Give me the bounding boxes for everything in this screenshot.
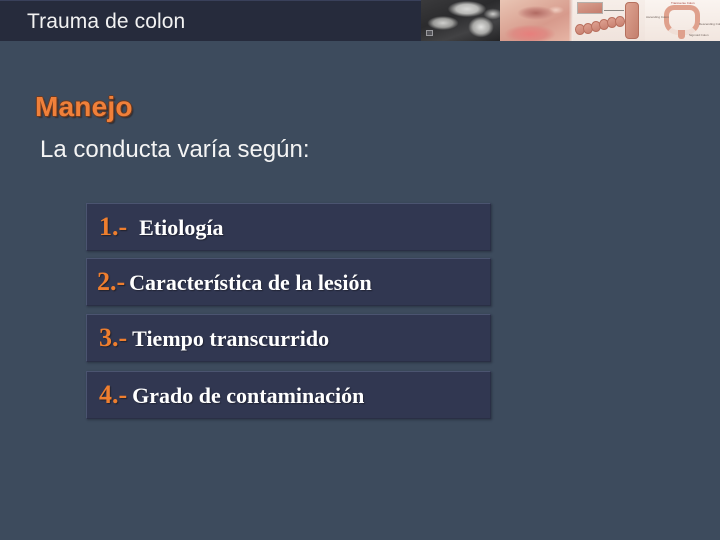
list-item: 2.- Característica de la lesión (86, 258, 491, 306)
endoscopy-mucosa-thumbnail (500, 0, 573, 41)
list-item-number: 3.- (99, 323, 127, 353)
diagram-label-descending: Descending Colon (699, 22, 720, 26)
anatomy-leader-line (604, 10, 624, 11)
list-item: 3.- Tiempo transcurrido (86, 314, 491, 362)
list-item-number: 1.- (99, 212, 127, 242)
list-item-content: 3.- Tiempo transcurrido (87, 323, 329, 353)
list-item-content: 4.- Grado de contaminación (87, 380, 364, 410)
list-item-content: 2.- Característica de la lesión (87, 267, 372, 297)
diagram-rectum-stem (678, 30, 685, 39)
list-item-label: Grado de contaminación (127, 383, 364, 409)
list-item-number: 2.- (97, 267, 125, 297)
slide-header-title: Trauma de colon (27, 9, 185, 34)
slide-canvas: Trauma de colon (0, 0, 720, 540)
list-item: 4.- Grado de contaminación (86, 371, 491, 419)
haustra-segment (615, 16, 625, 27)
colon-diagram-thumbnail: Transverse Colon Ascending Colon Descend… (645, 0, 720, 41)
thumbnail-strip: Transverse Colon Ascending Colon Descend… (421, 0, 720, 41)
list-item-number: 4.- (99, 380, 127, 410)
diagram-label-ascending: Ascending Colon (646, 15, 669, 19)
xray-side-marker-icon (426, 30, 433, 36)
anatomy-inset-photo (577, 2, 603, 14)
list-item-label: Tiempo transcurrido (127, 326, 329, 352)
list-item: 1.- Etiología (86, 203, 491, 251)
diagram-label-transverse: Transverse Colon (671, 1, 695, 5)
section-title: Manejo (35, 90, 133, 124)
colon-anatomy-thumbnail (573, 0, 645, 41)
slide-subtitle: La conducta varía según: (40, 135, 310, 165)
list-item-label: Característica de la lesión (125, 270, 372, 296)
endoscopy-image-surface (500, 0, 573, 41)
xray-abdomen-thumbnail (421, 0, 500, 41)
diagram-label-sigmoid: Sigmoid Colon (689, 33, 709, 37)
list-item-label: Etiología (127, 215, 223, 241)
anatomy-haustra-chain (575, 16, 623, 34)
anatomy-descending-colon (625, 2, 639, 39)
list-item-content: 1.- Etiología (87, 212, 224, 242)
